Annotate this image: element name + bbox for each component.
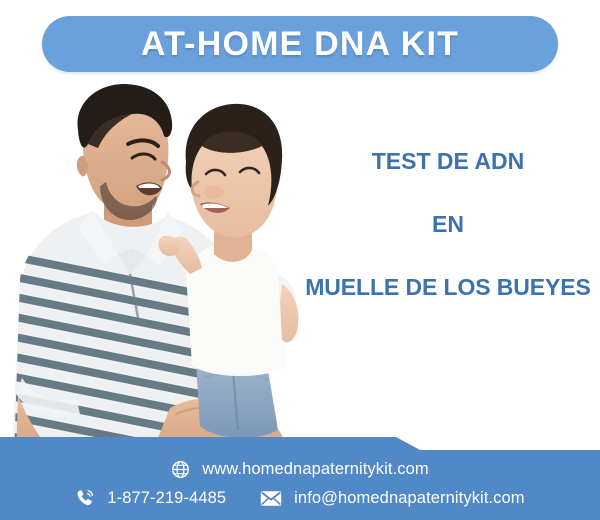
service-line-3: MUELLE DE LOS BUEYES — [296, 276, 600, 299]
globe-icon — [171, 460, 190, 479]
phone-text[interactable]: 1-877-219-4485 — [107, 489, 226, 508]
footer-contact-row: 1-877-219-4485 info@homednapaternitykit.… — [0, 488, 600, 508]
location-text-block: TEST DE ADN EN MUELLE DE LOS BUEYES — [296, 150, 600, 299]
family-photo-illustration — [0, 78, 310, 458]
family-photo — [0, 78, 310, 458]
website-text[interactable]: www.homednapaternitykit.com — [202, 460, 428, 479]
service-line-1: TEST DE ADN — [296, 150, 600, 173]
header-banner: AT-HOME DNA KIT — [42, 16, 558, 72]
poster-canvas: AT-HOME DNA KIT — [0, 0, 600, 520]
email-text[interactable]: info@homednapaternitykit.com — [294, 489, 525, 508]
phone-icon — [75, 488, 95, 508]
footer-website-row[interactable]: www.homednapaternitykit.com — [0, 460, 600, 479]
page-title: AT-HOME DNA KIT — [141, 27, 459, 61]
envelope-icon — [260, 490, 282, 507]
footer-bar: www.homednapaternitykit.com 1-877-219-44… — [0, 436, 600, 520]
service-line-2: EN — [296, 213, 600, 236]
